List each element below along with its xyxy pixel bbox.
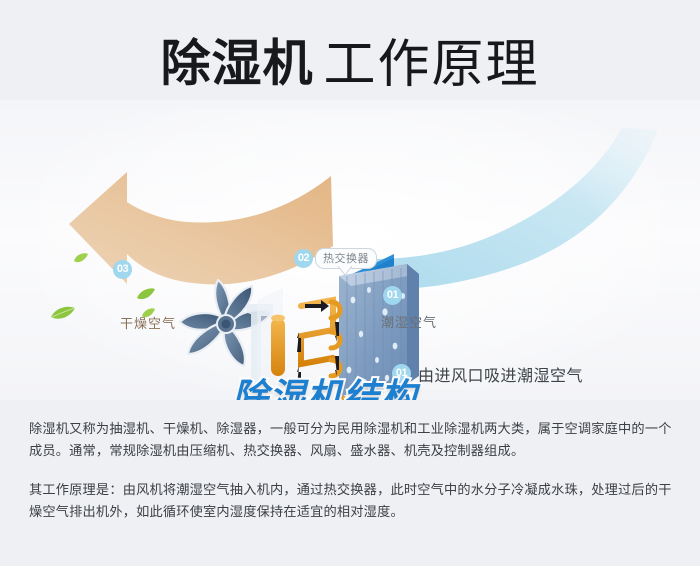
leaf-icon bbox=[73, 252, 89, 264]
step-list: 01 由进风口吸进潮湿空气 02 潮湿空气经过蒸发器冷凝成水珠 03 从上部出风… bbox=[392, 362, 692, 400]
page-title-strong: 除湿机 bbox=[160, 36, 313, 92]
step-text: 由进风口吸进潮湿空气 bbox=[418, 362, 583, 386]
leaf-icon bbox=[50, 305, 76, 321]
callout-tail-icon bbox=[338, 266, 352, 275]
badge-01: 01 bbox=[383, 286, 402, 305]
paragraph-1: 除湿机又称为抽湿机、干燥机、除湿器，一般可分为民用除湿机和工业除湿机两大类，属于… bbox=[29, 418, 677, 462]
list-item: 01 由进风口吸进潮湿空气 bbox=[392, 362, 692, 400]
body-copy: 除湿机又称为抽湿机、干燥机、除湿器，一般可分为民用除湿机和工业除湿机两大类，属于… bbox=[29, 418, 677, 523]
page-title: 除湿机工作原理 bbox=[0, 22, 700, 97]
paragraph-2: 其工作原理是：由风机将潮湿空气抽入机内，通过热交换器，此时空气中的水分子冷凝成水… bbox=[29, 479, 677, 523]
humid-air-label: 潮湿空气 bbox=[381, 312, 437, 331]
watermark-text: 除湿机结构 bbox=[232, 368, 417, 400]
badge-02: 02 bbox=[294, 249, 313, 268]
page-title-light: 工作原理 bbox=[323, 36, 539, 94]
illustration-stage: 水箱 01 02 03 潮湿空气 干燥空气 热交换器 01 由进风口吸进潮湿空气… bbox=[0, 100, 700, 400]
dry-air-label: 干燥空气 bbox=[120, 313, 176, 332]
badge-03: 03 bbox=[113, 260, 132, 279]
leaf-icon bbox=[136, 287, 156, 301]
